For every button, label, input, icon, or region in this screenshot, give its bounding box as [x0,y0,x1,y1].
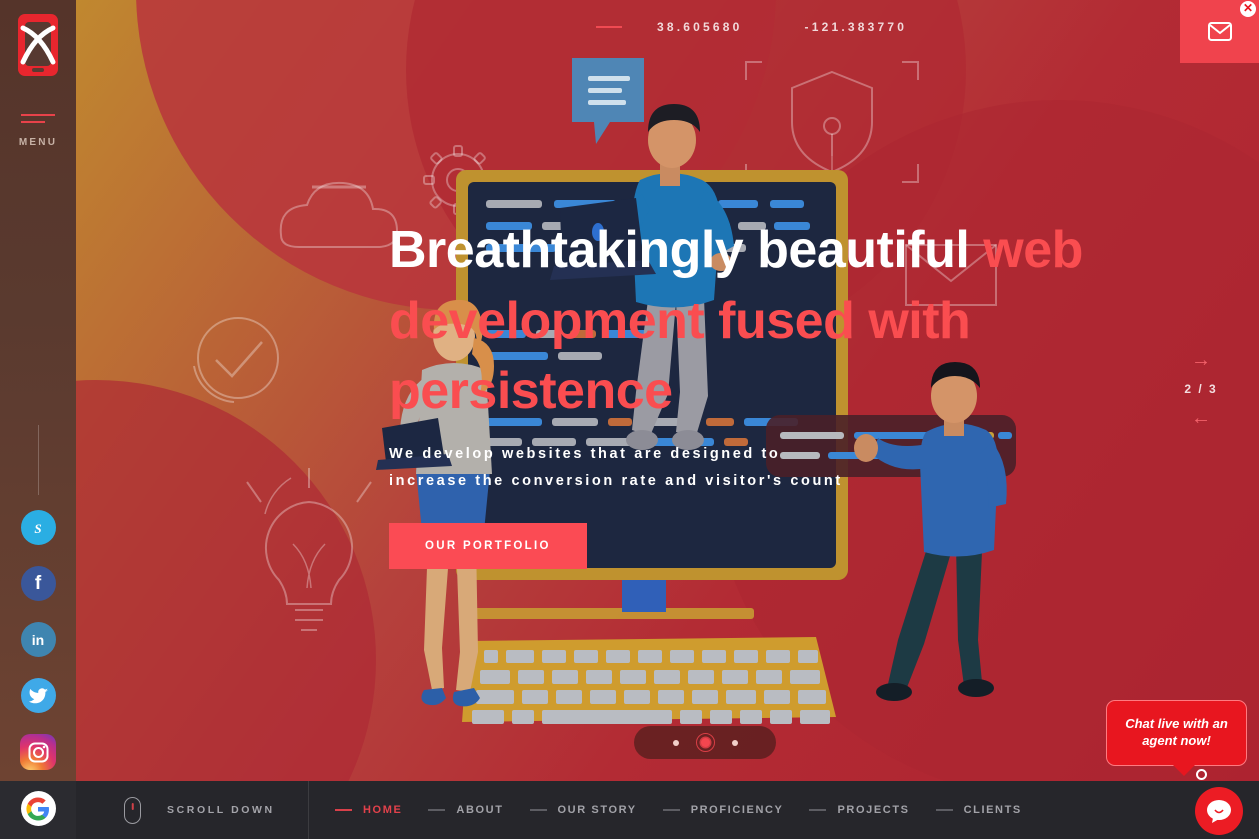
nav-item-projects[interactable]: PROJECTS [809,804,909,816]
chat-line-1: Chat live with an [1125,716,1228,733]
nav-item-proficiency[interactable]: PROFICIENCY [663,804,784,816]
slider-controls: → 2 / 3 ← [1177,350,1225,428]
skype-glyph: S [27,517,49,539]
nav-item-home[interactable]: HOME [335,804,402,816]
envelope-icon [1208,22,1232,41]
nav-item-our-story[interactable]: OUR STORY [530,804,637,816]
hero-subtitle: We develop websites that are designed to… [389,441,1149,495]
carousel-dot-1[interactable] [673,740,679,746]
menu-toggle-button[interactable] [21,114,55,123]
facebook-icon[interactable]: f [21,566,56,601]
nav-item-clients[interactable]: CLIENTS [936,804,1022,816]
arrow-left-icon[interactable]: ← [1191,408,1211,428]
coord-dash [596,26,622,28]
chat-launcher-button[interactable] [1195,787,1243,835]
mouse-scroll-icon [124,797,141,824]
nav-label-proficiency: PROFICIENCY [691,804,784,816]
hero-section: 38.605680 -121.383770 Breathtakingly bea… [76,0,1259,781]
latitude-value: 38.605680 [657,20,743,34]
subtitle-line-2: increase the conversion rate and visitor… [389,468,1149,495]
mobile-app-logo-icon [15,10,61,82]
chat-bubble-icon [1206,799,1232,823]
chat-close-icon[interactable]: ✕ [1240,1,1256,17]
scroll-down-label: SCROLL DOWN [167,804,275,816]
page-title: Breathtakingly beautiful web development… [389,215,1149,427]
nav-dash-clients [936,809,953,811]
mouse-wheel [131,803,134,810]
instagram-icon[interactable] [20,734,56,770]
twitter-icon[interactable] [21,678,56,713]
nav-label-home: HOME [363,804,402,816]
carousel-dot-2[interactable] [701,738,710,747]
carousel-dot-3[interactable] [732,740,738,746]
nav-label-about: ABOUT [456,804,503,816]
site-logo[interactable] [15,10,61,82]
bottom-bar: SCROLL DOWN HOME ABOUT OUR STORY PROFICI… [76,781,1259,839]
nav-label-clients: CLIENTS [964,804,1022,816]
subtitle-line-1: We develop websites that are designed to [389,441,1149,468]
chat-invite-bubble[interactable]: Chat live with an agent now! [1106,700,1247,766]
menu-label: MENU [19,137,57,148]
linkedin-icon[interactable]: in [21,622,56,657]
nav-dash-our-story [530,809,547,811]
social-links: S f in [0,510,76,826]
nav-item-about[interactable]: ABOUT [428,804,503,816]
nav-dash-home [335,809,352,811]
chat-line-2: agent now! [1125,733,1228,750]
nav-label-our-story: OUR STORY [558,804,637,816]
skype-icon[interactable]: S [21,510,56,545]
headline-white: Breathtakingly beautiful [389,221,983,279]
nav-dash-about [428,809,445,811]
hamburger-line-1 [21,114,55,116]
hamburger-line-2 [21,121,45,123]
slide-counter: 2 / 3 [1184,382,1217,396]
hero-copy: Breathtakingly beautiful web development… [389,215,1149,569]
google-g-glyph [26,797,50,821]
longitude-value: -121.383770 [805,20,908,34]
main-navigation: HOME ABOUT OUR STORY PROFICIENCY PROJECT… [309,804,1048,816]
portfolio-button[interactable]: OUR PORTFOLIO [389,523,587,569]
nav-dash-projects [809,809,826,811]
nav-dash-proficiency [663,809,680,811]
twitter-bird-glyph [29,688,48,704]
left-sidebar: MENU S f in [0,0,76,781]
arrow-right-icon[interactable]: → [1191,350,1211,370]
chat-connector-knob [1196,769,1207,780]
instagram-glyph [28,742,49,763]
sidebar-divider-line [38,425,39,495]
svg-text:S: S [34,521,41,536]
page-root: 38.605680 -121.383770 Breathtakingly bea… [0,0,1259,839]
scroll-down-area[interactable]: SCROLL DOWN [76,797,308,824]
chat-invite-text: Chat live with an agent now! [1125,716,1228,749]
geo-coordinates: 38.605680 -121.383770 [596,20,907,34]
carousel-dots [634,726,776,759]
google-icon[interactable] [21,791,56,826]
nav-label-projects: PROJECTS [837,804,909,816]
